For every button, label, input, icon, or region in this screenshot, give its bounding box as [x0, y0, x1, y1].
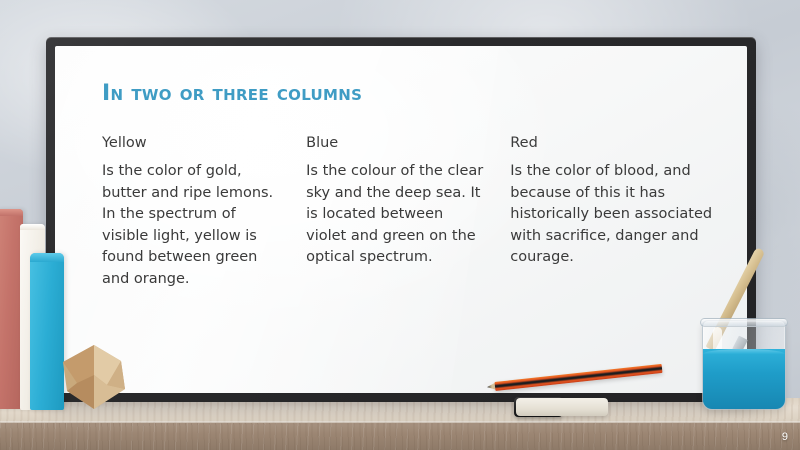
columns-container: Yellow Is the color of gold, butter and … — [102, 135, 714, 290]
blue-book — [30, 253, 64, 410]
slide-content: In two or three columns Yellow Is the co… — [102, 81, 719, 290]
column-yellow: Yellow Is the color of gold, butter and … — [102, 135, 306, 290]
column-body-text: Is the color of blood, and because of th… — [510, 161, 714, 269]
wooden-polyhedron-icon — [63, 345, 125, 409]
column-body-text: Is the color of gold, butter and ripe le… — [102, 161, 281, 290]
desk-front-panel — [0, 423, 800, 450]
whiteboard-frame: In two or three columns Yellow Is the co… — [46, 37, 756, 402]
jar-liquid — [703, 349, 785, 409]
presentation-slide: In two or three columns Yellow Is the co… — [0, 0, 800, 450]
column-blue: Blue Is the colour of the clear sky and … — [306, 135, 510, 290]
slide-title: In two or three columns — [102, 81, 719, 106]
jar-rim — [700, 318, 788, 327]
column-body-text: Is the colour of the clear sky and the d… — [306, 161, 485, 269]
column-heading: Yellow — [102, 135, 281, 152]
glass-jar — [702, 320, 786, 410]
column-red: Red Is the color of blood, and because o… — [510, 135, 714, 290]
page-number: 9 — [782, 431, 788, 443]
whiteboard-surface: In two or three columns Yellow Is the co… — [55, 46, 747, 393]
column-heading: Red — [510, 135, 714, 152]
column-heading: Blue — [306, 135, 485, 152]
eraser — [516, 398, 608, 416]
